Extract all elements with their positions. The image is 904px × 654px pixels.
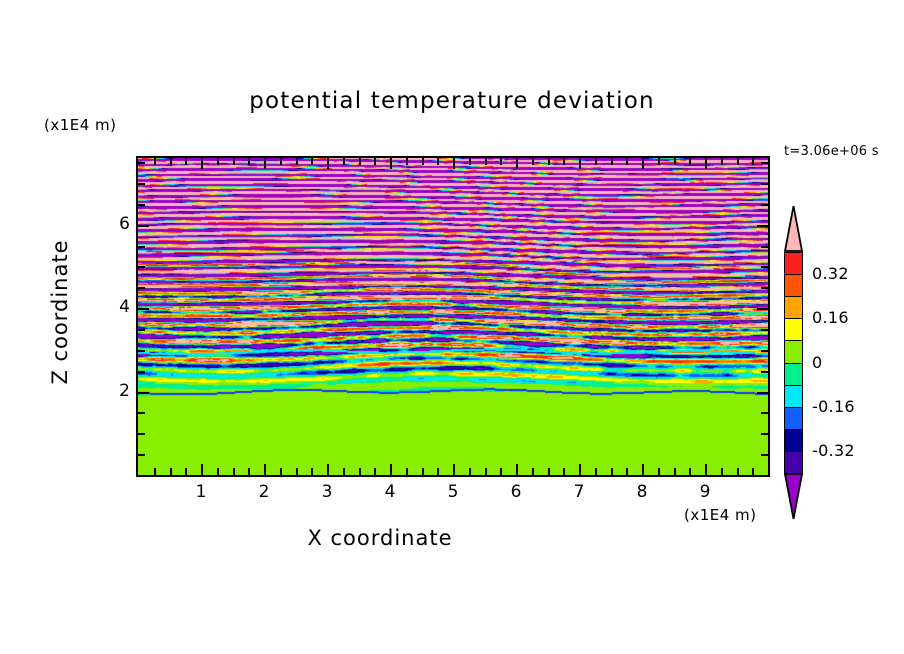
tick-mark [674,468,676,475]
tick-mark [761,162,768,164]
tick-mark [761,371,768,373]
tick-mark [390,464,392,475]
colorbar-segment [784,340,803,364]
x-tick-label: 9 [685,482,725,502]
tick-mark [264,158,266,169]
page-title: potential temperature deviation [0,88,904,114]
tick-mark [406,468,408,475]
tick-mark [296,468,298,475]
figure: potential temperature deviation (x1E4 m)… [0,0,904,654]
colorbar-tick-label: 0.32 [812,264,849,283]
colorbar-tick-label: 0.16 [812,308,849,327]
tick-mark [761,183,768,185]
tick-mark [595,158,597,165]
tick-mark [516,158,518,169]
tick-mark [138,329,145,331]
x-tick-label: 3 [307,482,347,502]
tick-mark [757,225,768,227]
tick-mark [761,412,768,414]
tick-mark [185,468,187,475]
x-tick-label: 8 [622,482,662,502]
tick-mark [761,454,768,456]
colorbar-segment [784,318,803,342]
x-axis-unit-label: (x1E4 m) [684,506,757,524]
tick-mark [761,246,768,248]
y-axis-unit-label: (x1E4 m) [44,116,117,134]
tick-mark [154,468,156,475]
tick-mark [532,158,534,165]
tick-mark [689,158,691,165]
tick-mark [406,158,408,165]
colorbar-segment [784,274,803,298]
tick-mark [217,158,219,165]
colorbar-tick-label: 0 [812,353,822,372]
x-tick-label: 4 [370,482,410,502]
tick-mark [138,454,145,456]
tick-mark [626,468,628,475]
tick-mark [516,464,518,475]
y-tick-label: 4 [90,297,130,317]
tick-mark [705,464,707,475]
x-tick-label: 2 [244,482,284,502]
x-tick-label: 1 [181,482,221,502]
tick-mark [280,158,282,165]
tick-mark [757,308,768,310]
tick-mark [737,468,739,475]
tick-mark [343,468,345,475]
colorbar-segment [784,385,803,409]
tick-mark [705,158,707,169]
x-axis-title: X coordinate [0,526,760,550]
tick-mark [611,158,613,165]
y-tick-label: 2 [90,381,130,401]
colorbar-segment [784,407,803,431]
tick-mark [327,464,329,475]
tick-mark [721,158,723,165]
tick-mark [761,433,768,435]
tick-mark [422,158,424,165]
tick-mark [752,468,754,475]
tick-mark [138,392,149,394]
tick-mark [201,464,203,475]
tick-mark [437,468,439,475]
tick-mark [548,468,550,475]
tick-mark [563,158,565,165]
tick-mark [563,468,565,475]
tick-mark [500,158,502,165]
timestamp-annotation: t=3.06e+06 s [784,144,879,159]
colorbar-under-range-cap [784,473,803,520]
tick-mark [374,158,376,165]
tick-mark [761,204,768,206]
colorbar-segment [784,451,803,475]
tick-mark [626,158,628,165]
tick-mark [311,468,313,475]
tick-mark [689,468,691,475]
y-tick-label: 6 [90,214,130,234]
tick-mark [138,225,149,227]
tick-mark [390,158,392,169]
tick-mark [248,158,250,165]
tick-mark [170,468,172,475]
tick-mark [138,266,145,268]
tick-mark [138,162,145,164]
tick-mark [453,464,455,475]
tick-mark [469,468,471,475]
tick-mark [138,308,149,310]
contour-plot-area [136,156,770,477]
colorbar-segment [784,252,803,276]
tick-mark [469,158,471,165]
tick-mark [485,468,487,475]
tick-mark [658,468,660,475]
x-tick-label: 5 [433,482,473,502]
tick-mark [233,158,235,165]
tick-mark [248,468,250,475]
tick-mark [327,158,329,169]
colorbar-segment [784,296,803,320]
tick-mark [311,158,313,165]
tick-mark [296,158,298,165]
tick-mark [343,158,345,165]
colorbar-tick-label: -0.16 [812,397,855,416]
tick-mark [761,350,768,352]
tick-mark [757,392,768,394]
colorbar-over-range-cap [784,205,803,252]
tick-mark [138,183,145,185]
tick-mark [532,468,534,475]
tick-mark [217,468,219,475]
tick-mark [359,158,361,165]
tick-mark [761,329,768,331]
tick-mark [658,158,660,165]
tick-mark [374,468,376,475]
tick-mark [264,464,266,475]
tick-mark [642,158,644,169]
tick-mark [721,468,723,475]
colorbar [784,205,803,520]
tick-mark [761,287,768,289]
tick-mark [548,158,550,165]
tick-mark [500,468,502,475]
x-tick-label: 6 [496,482,536,502]
tick-mark [674,158,676,165]
tick-mark [359,468,361,475]
tick-mark [579,464,581,475]
tick-mark [233,468,235,475]
tick-mark [595,468,597,475]
tick-mark [154,158,156,165]
tick-mark [138,204,145,206]
tick-mark [737,158,739,165]
colorbar-segment [784,429,803,453]
tick-mark [138,433,145,435]
tick-mark [280,468,282,475]
tick-mark [579,158,581,169]
tick-mark [138,246,145,248]
tick-mark [485,158,487,165]
tick-mark [437,158,439,165]
colorbar-segment [784,363,803,387]
tick-mark [453,158,455,169]
tick-mark [761,266,768,268]
tick-mark [138,287,145,289]
tick-mark [138,412,145,414]
contour-field-canvas [138,158,768,475]
tick-mark [138,371,145,373]
tick-mark [642,464,644,475]
tick-mark [752,158,754,165]
tick-mark [422,468,424,475]
colorbar-tick-label: -0.32 [812,441,855,460]
tick-mark [185,158,187,165]
tick-mark [170,158,172,165]
tick-mark [201,158,203,169]
tick-mark [138,350,145,352]
y-axis-title: Z coordinate [48,212,72,412]
x-tick-label: 7 [559,482,599,502]
tick-mark [611,468,613,475]
